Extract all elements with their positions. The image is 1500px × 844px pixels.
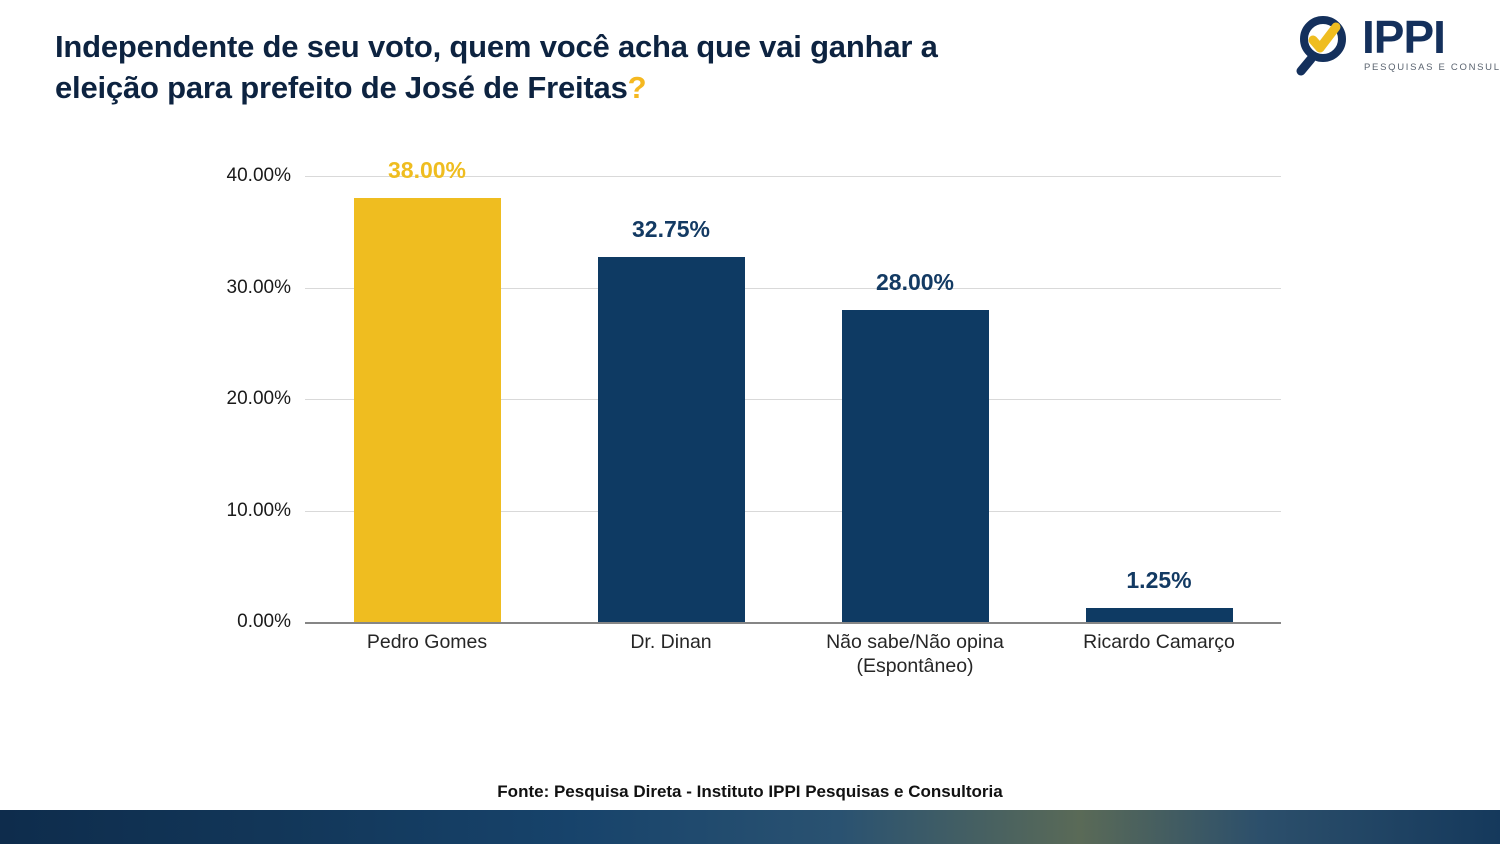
bar[interactable] [598,257,745,622]
page-title-question-mark: ? [628,70,647,105]
bar-value-label: 32.75% [632,216,710,243]
page-title-line2: eleição para prefeito de José de Freitas [55,70,628,105]
y-tick-label: 10.00% [91,500,291,522]
y-tick-label: 0.00% [91,611,291,633]
page-title: Independente de seu voto, quem você acha… [55,26,1175,108]
bar[interactable] [842,310,989,622]
ippi-logo: IPPI PESQUISAS E CONSULTORIA [1296,12,1482,82]
bottom-accent-bar [0,810,1500,844]
category-label: Dr. Dinan [529,630,813,654]
page-title-line1: Independente de seu voto, quem você acha… [55,29,938,64]
bar-value-label: 38.00% [388,157,466,184]
bar-value-label: 28.00% [876,269,954,296]
category-label: Ricardo Camarço [1017,630,1301,654]
y-tick-label: 20.00% [91,388,291,410]
x-axis-line [305,622,1281,624]
source-note: Fonte: Pesquisa Direta - Instituto IPPI … [0,782,1500,802]
bar[interactable] [354,198,501,622]
bar-value-label: 1.25% [1126,567,1191,594]
chart-card: 0.00%10.00%20.00%30.00%40.00% 38.00%Pedr… [196,118,1303,728]
y-tick-label: 30.00% [91,277,291,299]
logo-tagline: PESQUISAS E CONSULTORIA [1364,62,1500,73]
magnifier-check-icon [1296,14,1358,76]
bar-chart-plot: 0.00%10.00%20.00%30.00%40.00% 38.00%Pedr… [196,118,1303,728]
slide-root: Independente de seu voto, quem você acha… [0,0,1500,844]
category-label: Não sabe/Não opina (Espontâneo) [773,630,1057,679]
bar[interactable] [1086,608,1233,622]
category-label: Pedro Gomes [285,630,569,654]
logo-wordmark: IPPI [1362,14,1445,60]
y-tick-label: 40.00% [91,165,291,187]
